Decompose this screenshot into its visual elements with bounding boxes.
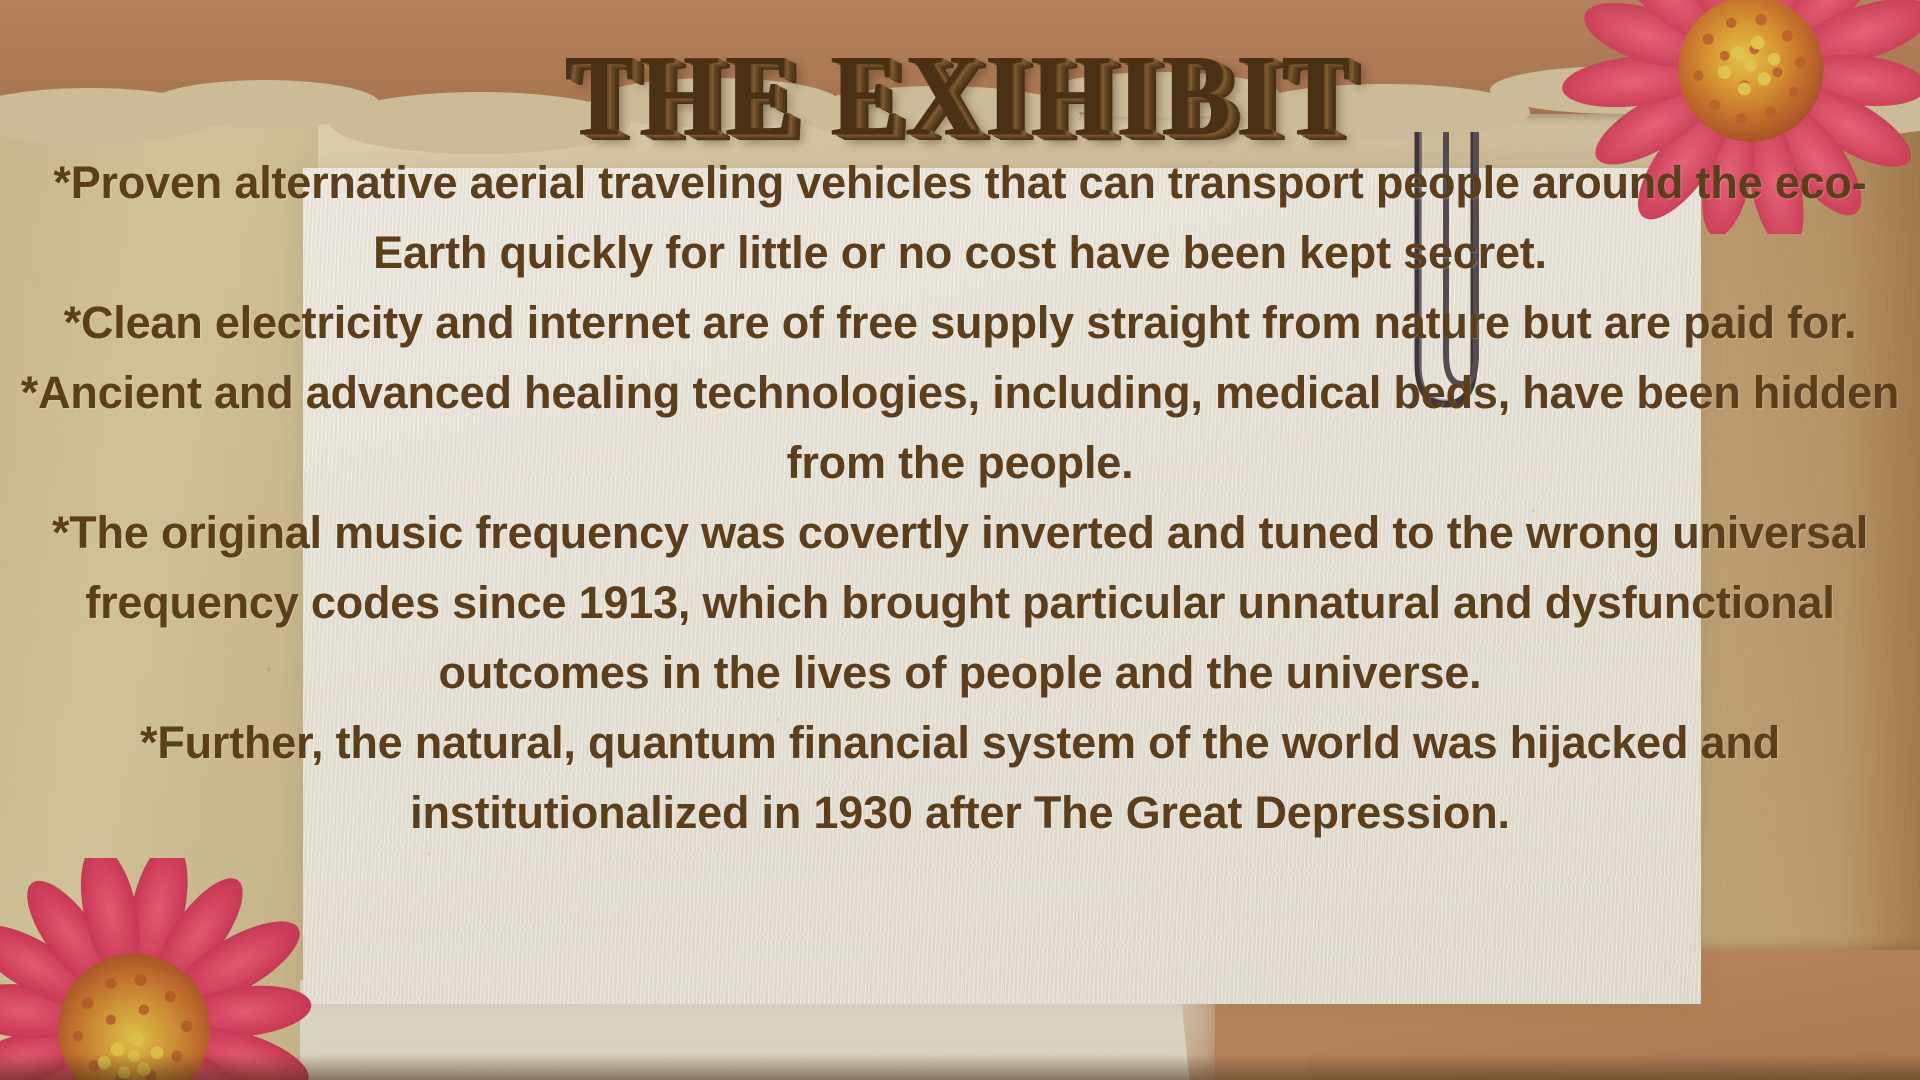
body-text-block: *Proven alternative aerial traveling veh… [0,148,1920,848]
bullet-paragraph: *Clean electricity and internet are of f… [0,288,1920,358]
bullet-paragraph: *Further, the natural, quantum financial… [0,708,1920,848]
slide-canvas: THE EXIHIBIT *Proven alternative aerial … [0,0,1920,1080]
bullet-paragraph: *Proven alternative aerial traveling veh… [0,148,1920,288]
bottom-shadow-edge [0,1054,1920,1080]
bullet-paragraph: *The original music frequency was covert… [0,498,1920,708]
page-title: THE EXIHIBIT [564,36,1355,157]
bullet-paragraph: *Ancient and advanced healing technologi… [0,358,1920,498]
title-container: THE EXIHIBIT [0,36,1920,144]
